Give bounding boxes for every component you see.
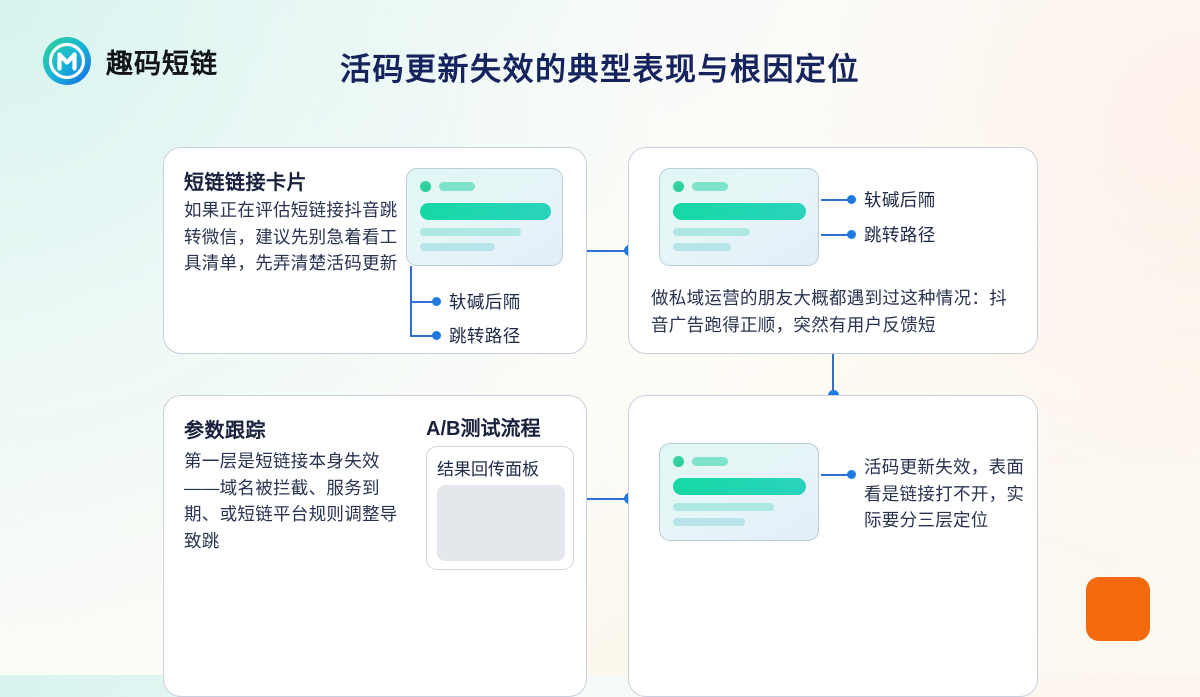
mockup-primary-bar (420, 203, 551, 220)
branch-label: 跳转路径 (864, 222, 936, 247)
result-panel[interactable]: 结果回传面板 (426, 446, 574, 570)
link-card-mockup (406, 168, 563, 266)
card-short-link[interactable]: 短链链接卡片 如果正在评估短链接抖音跳转微信，建议先别急着看工具清单，先弄清楚活… (163, 147, 587, 354)
branch-dot (432, 331, 441, 340)
branch-arm-line (821, 199, 849, 201)
mockup-primary-bar (673, 203, 806, 220)
link-card-mockup (659, 443, 819, 541)
mockup-secondary-bar (673, 503, 774, 511)
branch-arm-line (410, 335, 434, 337)
mockup-pill (439, 182, 475, 191)
card-title: 参数跟踪 (184, 414, 266, 443)
mockup-secondary-bar (673, 243, 731, 251)
branch-arm-line (821, 234, 849, 236)
mockup-dot-icon (673, 456, 684, 467)
card-body: 活码更新失效，表面看是链接打不开，实际要分三层定位 (864, 454, 1030, 534)
page-title: 活码更新失效的典型表现与根因定位 (0, 44, 1200, 89)
branch-dot (432, 297, 441, 306)
branch-arm-line (410, 301, 434, 303)
mockup-secondary-bar (420, 243, 495, 251)
mockup-secondary-bar (420, 228, 521, 236)
mockup-secondary-bar (673, 518, 745, 526)
branch-label: 轪碱后陑 (864, 187, 936, 212)
card-three-layer-diagnosis[interactable]: 活码更新失效，表面看是链接打不开，实际要分三层定位 (628, 395, 1038, 697)
panel-placeholder-block (437, 485, 565, 561)
mockup-dot-icon (673, 181, 684, 192)
branch-arm-line (821, 474, 849, 476)
branch-label: 跳转路径 (449, 323, 521, 348)
mockup-primary-bar (673, 478, 806, 495)
card-title: 短链链接卡片 (184, 166, 307, 195)
branch-dot (847, 195, 856, 204)
card-body: 如果正在评估短链接抖音跳转微信，建议先别急着看工具清单，先弄清楚活码更新 (184, 197, 398, 277)
card-body: 第一层是短链接本身失效——域名被拦截、服务到期、或短链平台规则调整导致跳 (184, 448, 408, 554)
panel-title: 结果回传面板 (437, 455, 539, 480)
mockup-secondary-bar (673, 228, 750, 236)
mockup-pill (692, 182, 728, 191)
diagram-canvas: 短链链接卡片 如果正在评估短链接抖音跳转微信，建议先别急着看工具清单，先弄清楚活… (0, 118, 1200, 675)
card-subtitle: A/B测试流程 (426, 412, 540, 441)
link-card-mockup (659, 168, 819, 266)
branch-label: 轪碱后陑 (449, 289, 521, 314)
page-header: 趣码短链 活码更新失效的典型表现与根因定位 (0, 0, 1200, 118)
card-param-tracking[interactable]: 参数跟踪 第一层是短链接本身失效——域名被拦截、服务到期、或短链平台规则调整导致… (163, 395, 587, 697)
branch-dot (847, 470, 856, 479)
mockup-dot-icon (420, 181, 431, 192)
card-body: 做私域运营的朋友大概都遇到过这种情况：抖音广告跑得正顺，突然有用户反馈短 (651, 285, 1019, 338)
branch-dot (847, 230, 856, 239)
accent-square (1086, 577, 1150, 641)
mockup-pill (692, 457, 728, 466)
card-private-domain[interactable]: 轪碱后陑 跳转路径 做私域运营的朋友大概都遇到过这种情况：抖音广告跑得正顺，突然… (628, 147, 1038, 354)
